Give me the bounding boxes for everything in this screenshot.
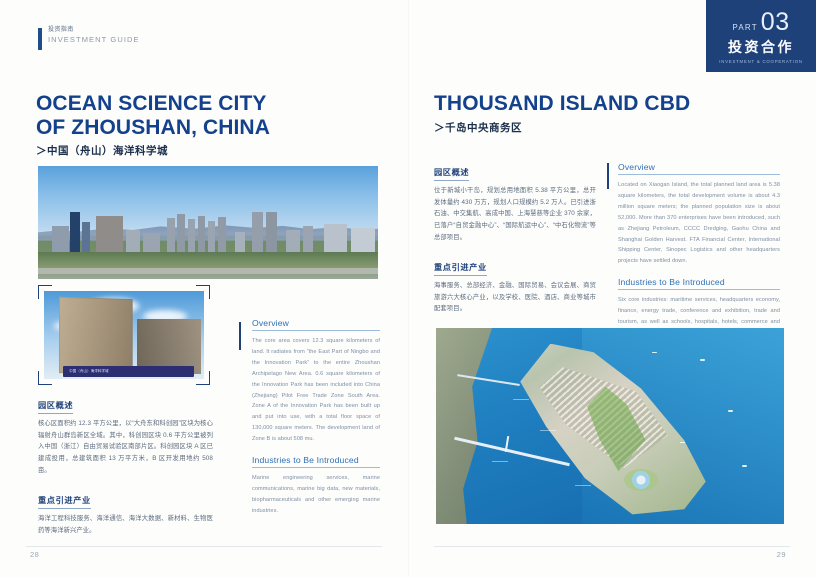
right-title-block: THOUSAND ISLAND CBD ＞千岛中央商务区	[434, 92, 704, 135]
left-page-title-en: OCEAN SCIENCE CITY OF ZHOUSHAN, CHINA	[36, 92, 276, 139]
part-title-en: INVESTMENT & COOPERATION	[719, 59, 803, 64]
right-cn-heading-overview: 园区概述	[434, 166, 469, 181]
left-cn-column: 园区概述 核心区面积约 12.3 平方公里，以“大舟东和科创园”区块为核心辐射舟…	[38, 395, 213, 536]
photo-frame-corner-bottom-left	[38, 371, 52, 385]
photo-frame-corner-bottom-right	[196, 371, 210, 385]
right-en-heading-overview: Overview	[618, 162, 780, 175]
folio-left: 28	[30, 550, 39, 559]
ocean-science-city-tower-photo: 中国（舟山）海洋科学城	[44, 291, 204, 379]
tower-sign: 中国（舟山）海洋科学城	[63, 366, 194, 377]
part-label: PART	[732, 23, 757, 32]
part-title-cn: 投资合作	[728, 37, 794, 57]
left-cn-heading-industries: 重点引进产业	[38, 494, 91, 509]
right-page-title-cn: ＞千岛中央商务区	[434, 120, 704, 135]
right-page-title-en: THOUSAND ISLAND CBD	[434, 92, 704, 116]
left-cn-body-industries: 海洋工程科技服务、海洋通信、海洋大数据、新材料、生物医药等海洋新兴产业。	[38, 513, 213, 536]
photo-frame-corner-top-right	[196, 285, 210, 299]
left-title-block: OCEAN SCIENCE CITY OF ZHOUSHAN, CHINA ＞中…	[36, 92, 276, 158]
left-page-title-cn: ＞中国（舟山）海洋科学城	[36, 143, 276, 158]
left-column-accent-bar	[239, 322, 241, 350]
left-en-body-industries: Marine engineering services, marine comm…	[252, 473, 380, 517]
left-en-heading-overview: Overview	[252, 318, 380, 331]
running-head-cn: 投资指南	[48, 27, 140, 35]
zhoushan-skyline-panorama-photo	[38, 166, 378, 279]
page-gutter	[408, 0, 409, 577]
left-cn-body-overview: 核心区面积约 12.3 平方公里，以“大舟东和科创园”区块为核心辐射舟山群岛新区…	[38, 418, 213, 476]
right-cn-column: 园区概述 位于新城小干岛，规划总用地面积 5.38 平方公里，总开发体量约 43…	[434, 162, 596, 315]
right-en-column: Overview Located on Xiaogan Island, the …	[618, 162, 780, 339]
running-head-en: INVESTMENT GUIDE	[48, 35, 140, 44]
left-en-column: Overview The core area covers 12.3 squar…	[252, 318, 380, 517]
left-cn-heading-overview: 园区概述	[38, 399, 73, 414]
running-head-accent-bar	[38, 28, 42, 50]
right-cn-body-overview: 位于新城小干岛，规划总用地面积 5.38 平方公里，总开发体量约 430 万方，…	[434, 185, 596, 243]
photo-frame-corner-top-left	[38, 285, 52, 299]
right-column-accent-bar	[607, 163, 609, 189]
right-cn-body-industries: 海事服务、总部经济、金融、国际贸易、会议会展、商贸旅游六大核心产业，以及学校、医…	[434, 280, 596, 315]
left-en-body-overview: The core area covers 12.3 square kilomet…	[252, 336, 380, 445]
folio-right: 29	[777, 550, 786, 559]
part-badge: PART 03 投资合作 INVESTMENT & COOPERATION	[706, 0, 816, 72]
right-cn-heading-industries: 重点引进产业	[434, 261, 487, 276]
brochure-spread: 投资指南 INVESTMENT GUIDE PART 03 投资合作 INVES…	[0, 0, 816, 577]
tower-sign-text: 中国（舟山）海洋科学城	[63, 366, 194, 373]
right-en-heading-industries: Industries to Be Introduced	[618, 277, 780, 290]
thousand-island-cbd-aerial-photo	[436, 328, 784, 524]
folio-rule-right	[434, 546, 790, 547]
left-en-heading-industries: Industries to Be Introduced	[252, 455, 380, 468]
running-head: 投资指南 INVESTMENT GUIDE	[38, 27, 140, 50]
part-number: 03	[761, 10, 790, 35]
right-en-body-overview: Located on Xiaogan Island, the total pla…	[618, 180, 780, 267]
folio-rule-left	[26, 546, 382, 547]
